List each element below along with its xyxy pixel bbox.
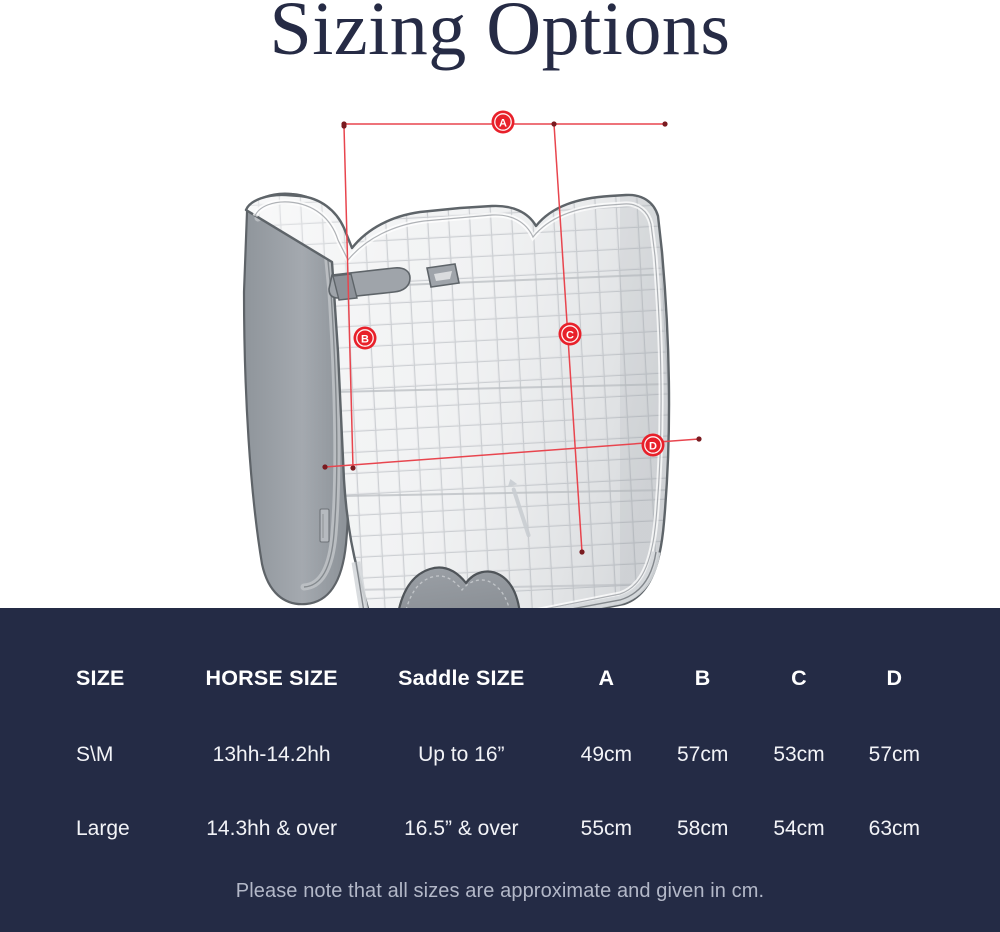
cell-size: S\M (62, 743, 179, 767)
cell-horse: 14.3hh & over (179, 817, 364, 841)
header-d: D (847, 666, 942, 691)
page-title: Sizing Options (270, 0, 731, 67)
svg-text:D: D (649, 440, 657, 452)
cell-c: 54cm (751, 817, 846, 841)
header-saddle-size: Saddle SIZE (364, 666, 559, 691)
sizing-table-panel: SIZE HORSE SIZE Saddle SIZE A B C D S\M … (0, 608, 1000, 932)
table-header-row: SIZE HORSE SIZE Saddle SIZE A B C D (62, 666, 942, 691)
table-row: S\M 13hh-14.2hh Up to 16” 49cm 57cm 53cm… (62, 743, 942, 767)
cell-size: Large (62, 817, 179, 841)
svg-text:A: A (499, 117, 507, 129)
cell-saddle: Up to 16” (364, 743, 559, 767)
measure-marker-a: A (492, 111, 515, 134)
cell-saddle: 16.5” & over (364, 817, 559, 841)
cell-a: 55cm (559, 817, 654, 841)
measure-marker-c: C (559, 323, 582, 346)
cell-b: 57cm (654, 743, 751, 767)
sizing-options-page: Sizing Options (0, 0, 1000, 932)
svg-text:B: B (361, 333, 369, 345)
cell-b: 58cm (654, 817, 751, 841)
wither-tab-detail (427, 264, 459, 287)
cell-a: 49cm (559, 743, 654, 767)
saddle-pad-diagram: A B C D (0, 92, 1000, 608)
page-title-container: Sizing Options (0, 0, 1000, 92)
side-brand-tag (320, 509, 329, 542)
header-horse-size: HORSE SIZE (179, 666, 364, 691)
svg-text:C: C (566, 329, 574, 341)
cell-d: 57cm (847, 743, 942, 767)
sizing-table: SIZE HORSE SIZE Saddle SIZE A B C D S\M … (62, 666, 942, 841)
header-b: B (654, 666, 751, 691)
header-size: SIZE (62, 666, 179, 691)
header-a: A (559, 666, 654, 691)
cell-c: 53cm (751, 743, 846, 767)
cell-horse: 13hh-14.2hh (179, 743, 364, 767)
sizing-footnote: Please note that all sizes are approxima… (0, 880, 1000, 903)
cell-d: 63cm (847, 817, 942, 841)
header-c: C (751, 666, 846, 691)
measure-marker-d: D (642, 434, 665, 457)
table-row: Large 14.3hh & over 16.5” & over 55cm 58… (62, 817, 942, 841)
measure-marker-b: B (354, 327, 377, 350)
